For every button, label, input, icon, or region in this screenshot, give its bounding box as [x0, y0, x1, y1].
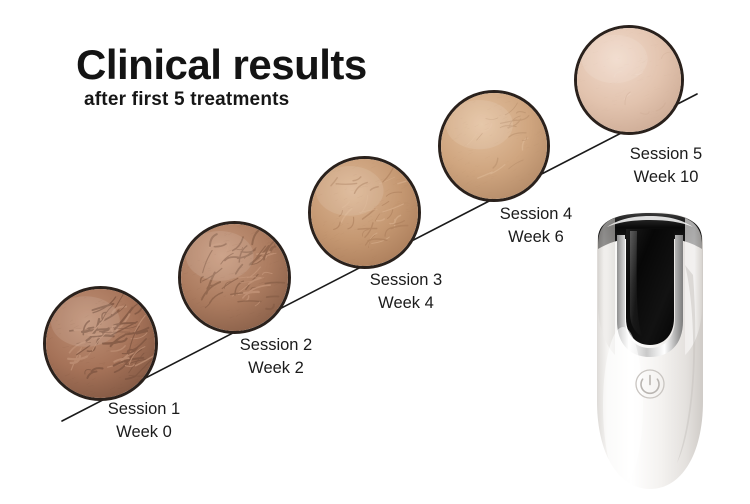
- skin-texture: [439, 91, 550, 202]
- caption-week-label: Week 6: [500, 226, 572, 249]
- caption-week-label: Week 2: [240, 357, 312, 380]
- skin-texture: [179, 222, 291, 334]
- sample-caption-4: Session 4Week 6: [500, 203, 572, 249]
- caption-session-label: Session 2: [240, 336, 312, 354]
- caption-session-label: Session 1: [108, 400, 180, 418]
- page-title: Clinical results: [76, 44, 367, 86]
- device-body-highlight: [603, 327, 643, 483]
- sample-caption-1: Session 1Week 0: [108, 398, 180, 444]
- beauty-device-image: [585, 205, 715, 495]
- sample-caption-5: Session 5Week 10: [630, 143, 702, 189]
- caption-week-label: Week 4: [370, 292, 442, 315]
- skin-sample-4: [438, 90, 550, 202]
- skin-sample-5: [574, 25, 684, 135]
- caption-session-label: Session 4: [500, 205, 572, 223]
- skin-texture: [44, 287, 158, 401]
- clinical-results-graphic: Clinical results after first 5 treatment…: [0, 0, 750, 504]
- device-svg: [585, 205, 715, 495]
- caption-week-label: Week 10: [630, 166, 702, 189]
- skin-sample-3: [308, 156, 421, 269]
- sample-caption-3: Session 3Week 4: [370, 269, 442, 315]
- caption-session-label: Session 5: [630, 145, 702, 163]
- caption-session-label: Session 3: [370, 271, 442, 289]
- caption-week-label: Week 0: [108, 421, 180, 444]
- page-subtitle: after first 5 treatments: [84, 90, 289, 109]
- skin-texture: [575, 26, 684, 135]
- sample-caption-2: Session 2Week 2: [240, 334, 312, 380]
- skin-sample-1: [43, 286, 158, 401]
- skin-texture: [309, 157, 421, 269]
- skin-sample-2: [178, 221, 291, 334]
